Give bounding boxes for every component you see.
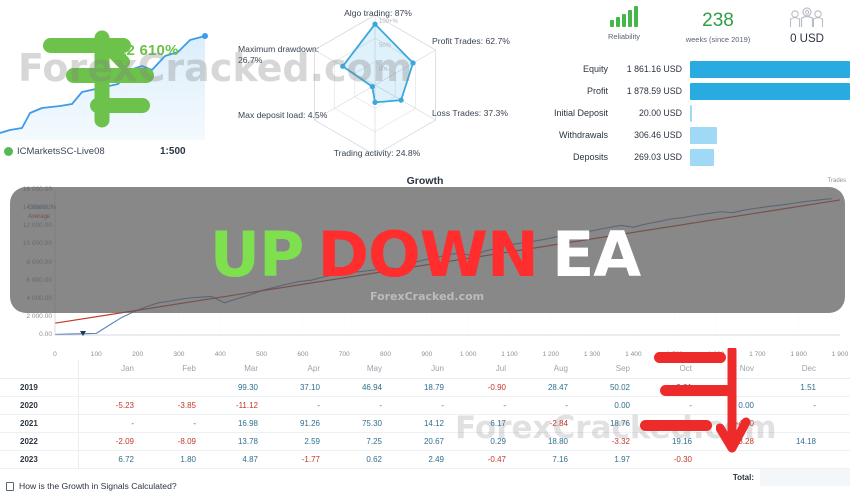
account-row-value: 1 878.59 USD <box>608 86 690 96</box>
growth-x-tick: 1 300 <box>579 351 605 358</box>
table-cell-month: 37.10 <box>264 378 326 396</box>
table-header-row: Jan Feb Mar Apr May Jun Jul Aug Sep Oct … <box>0 360 850 378</box>
table-header-jun: Jun <box>388 360 450 378</box>
radar-label-loss-trades: Loss Trades: 37.3% <box>432 108 512 119</box>
table-cell-month: 1.80 <box>140 450 202 468</box>
radar-label-profit-trades: Profit Trades: 62.7% <box>432 36 512 47</box>
broker-row: ICMarketsSC-Live08 <box>4 146 250 157</box>
table-cell-month: 9.91 <box>636 378 698 396</box>
table-header-apr: Apr <box>264 360 326 378</box>
table-cell-month: 1.97 <box>574 450 636 468</box>
growth-x-tick: 1 500 <box>662 351 688 358</box>
account-row-barwrap <box>690 149 850 166</box>
table-cell-month: - <box>450 396 512 414</box>
table-cell-month: - <box>326 396 388 414</box>
table-cell-month <box>760 414 822 432</box>
table-cell-month: 99.30 <box>202 378 264 396</box>
growth-help-link-label: How is the Growth in Signals Calculated? <box>19 481 177 491</box>
growth-x-tick: 900 <box>414 351 440 358</box>
table-cell-month: 2.49 <box>388 450 450 468</box>
account-row-bar <box>690 105 692 122</box>
document-icon <box>6 482 14 491</box>
table-cell-month: 0.29 <box>450 432 512 450</box>
table-header-aug: Aug <box>512 360 574 378</box>
monthly-returns-grid: Jan Feb Mar Apr May Jun Jul Aug Sep Oct … <box>0 360 850 486</box>
account-row-profit: Profit 1 878.59 USD <box>520 80 850 102</box>
account-row-value: 306.46 USD <box>608 130 690 140</box>
table-cell-month: 4.87 <box>202 450 264 468</box>
table-cell-month: 7.16 <box>512 450 574 468</box>
table-cell-month: - <box>78 414 140 432</box>
table-cell-month <box>698 450 760 468</box>
growth-y-tick: 0.00 <box>0 331 52 338</box>
radar-label-max-deposit-load: Max deposit load: 4.5% <box>238 110 330 121</box>
weeks-caption: weeks (since 2019) <box>668 35 768 44</box>
growth-x-axis-label: Trades <box>828 178 846 184</box>
growth-x-tick: 1 800 <box>786 351 812 358</box>
table-cell-month: 0.00 <box>698 396 760 414</box>
growth-x-tick: 1 000 <box>455 351 481 358</box>
table-cell-month: 18.76 <box>574 414 636 432</box>
table-cell-month: -11.12 <box>202 396 264 414</box>
table-cell-month: 6.17 <box>450 414 512 432</box>
table-cell-month: 18.80 <box>512 432 574 450</box>
table-row: 2022-2.09-8.0913.782.597.2520.670.2918.8… <box>0 432 850 450</box>
table-cell-year: 2019 <box>0 378 78 396</box>
table-header-mar: Mar <box>202 360 264 378</box>
account-row-bar <box>690 127 717 144</box>
table-cell-month: 13.78 <box>202 432 264 450</box>
growth-x-tick: 1 100 <box>496 351 522 358</box>
growth-y-tick: 4 000.00 <box>0 295 52 302</box>
leverage-value: 1:500 <box>160 146 186 157</box>
table-cell-year: 2023 <box>0 450 78 468</box>
broker-status-icon <box>4 147 13 156</box>
table-header-jul: Jul <box>450 360 512 378</box>
growth-x-tick: 400 <box>207 351 233 358</box>
table-cell-month: - <box>388 396 450 414</box>
legend-item-growth: Growth, % <box>28 204 56 213</box>
subscribers-people-icon: 0 <box>787 5 827 29</box>
table-cell-month: -3.85 <box>140 396 202 414</box>
table-row: 20236.721.804.87-1.770.622.49-0.477.161.… <box>0 450 850 468</box>
table-cell-month: 6.72 <box>78 450 140 468</box>
table-cell-ytd: 617.57% <box>822 414 850 432</box>
growth-x-tick: 1 400 <box>620 351 646 358</box>
kpi-weeks: 238 weeks (since 2019) <box>668 5 768 57</box>
table-cell-year: 2022 <box>0 432 78 450</box>
account-row-barwrap <box>690 83 850 100</box>
overlay-word-up: UP <box>210 224 304 286</box>
table-header-year <box>0 360 78 378</box>
table-header-dec: Dec <box>760 360 822 378</box>
account-row-value: 1 861.16 USD <box>608 64 690 74</box>
table-row: 201999.3037.1046.9418.79-0.9028.4750.029… <box>0 378 850 396</box>
logo-arrow-icon <box>18 20 168 130</box>
growth-x-tick: 200 <box>125 351 151 358</box>
kpi-row: Reliability 238 weeks (since 2019) 0 <box>580 5 850 57</box>
radar-label-algo-trading: Algo trading: 87% <box>308 8 448 19</box>
growth-x-tick: 800 <box>373 351 399 358</box>
table-cell-month: 7.25 <box>326 432 388 450</box>
table-cell-month: -3.32 <box>574 432 636 450</box>
table-cell-month: 0.00 <box>574 396 636 414</box>
account-rows: Equity 1 861.16 USD Profit 1 878.59 USD … <box>520 58 850 168</box>
svg-text:50%: 50% <box>379 43 392 49</box>
growth-x-tick: 500 <box>249 351 275 358</box>
svg-text:0%: 0% <box>379 67 388 73</box>
table-cell-year: 2020 <box>0 396 78 414</box>
growth-chart-title: Growth <box>0 175 850 187</box>
account-row-value: 269.03 USD <box>608 152 690 162</box>
table-cell-month <box>78 378 140 396</box>
account-row-value: 20.00 USD <box>608 108 690 118</box>
table-cell-month: -13.28 <box>698 432 760 450</box>
table-cell-month: 20.67 <box>388 432 450 450</box>
weeks-value: 238 <box>668 5 768 30</box>
growth-percent-value: 12 610% <box>118 42 179 59</box>
reliability-caption: Reliability <box>580 32 668 41</box>
table-cell-month <box>140 378 202 396</box>
broker-name: ICMarketsSC-Live08 <box>17 146 105 157</box>
growth-x-tick: 1 700 <box>744 351 770 358</box>
account-row-barwrap <box>690 127 850 144</box>
table-cell-month: 28.47 <box>512 378 574 396</box>
overlay-word-ea: EA <box>552 224 640 286</box>
account-row-label: Initial Deposit <box>520 108 608 118</box>
account-row-label: Equity <box>520 64 608 74</box>
table-cell-month: -0.90 <box>450 378 512 396</box>
growth-x-tick: 700 <box>331 351 357 358</box>
table-row: 2020-5.23-3.85-11.12-----0.00-0.00--19.0… <box>0 396 850 414</box>
table-cell-month: - <box>140 414 202 432</box>
table-cell-month: -8.09 <box>140 432 202 450</box>
growth-x-tick: 0 <box>42 351 68 358</box>
account-row-label: Withdrawals <box>520 130 608 140</box>
table-cell-month: 14.18 <box>760 432 822 450</box>
table-cell-month: 50.02 <box>574 378 636 396</box>
kpi-subscribers: 0 0 USD <box>768 5 846 57</box>
monthly-returns-table: Jan Feb Mar Apr May Jun Jul Aug Sep Oct … <box>0 360 850 500</box>
svg-text:100+%: 100+% <box>379 19 399 25</box>
growth-y-tick: 16 000.00 <box>0 186 52 193</box>
mini-growth-card: 12 610% ICMarketsSC-Live08 1:500 <box>0 0 250 175</box>
table-header-jan: Jan <box>78 360 140 378</box>
table-cell-ytd: 25.13% <box>822 450 850 468</box>
table-cell-month: 1.51 <box>760 378 822 396</box>
table-cell-month: - <box>636 396 698 414</box>
growth-help-link[interactable]: How is the Growth in Signals Calculated? <box>6 481 177 491</box>
radar-label-maximum-drawdown: Maximum drawdown: 26.7% <box>238 44 330 65</box>
account-row-bar <box>690 83 850 100</box>
table-cell-ytd: 84.76% <box>822 432 850 450</box>
table-cell-year: 2021 <box>0 414 78 432</box>
table-cell-month: -2.09 <box>78 432 140 450</box>
growth-x-tick: 300 <box>166 351 192 358</box>
growth-x-tick: 1 900 <box>827 351 850 358</box>
table-cell-ytd: -19.03% <box>822 396 850 414</box>
kpi-reliability: Reliability <box>580 5 668 57</box>
table-cell-month: 14.12 <box>388 414 450 432</box>
account-stats-panel: Reliability 238 weeks (since 2019) 0 <box>520 0 850 175</box>
account-row-bar <box>690 61 850 78</box>
table-cell-month: -2.84 <box>512 414 574 432</box>
reliability-bars-icon <box>580 5 668 27</box>
account-row-barwrap <box>690 61 850 78</box>
table-cell-month: 75.30 <box>326 414 388 432</box>
table-cell-month: -4.60 <box>698 414 760 432</box>
account-row-barwrap <box>690 105 850 122</box>
table-cell-month: 2.59 <box>264 432 326 450</box>
table-cell-month: 19.63 <box>636 414 698 432</box>
growth-y-tick: 2 000.00 <box>0 313 52 320</box>
overlay-word-down: DOWN <box>318 224 538 286</box>
account-row-label: Profit <box>520 86 608 96</box>
growth-x-tick: 100 <box>83 351 109 358</box>
table-header-sep: Sep <box>574 360 636 378</box>
account-row-withdrawals: Withdrawals 306.46 USD <box>520 124 850 146</box>
table-cell-month: 16.98 <box>202 414 264 432</box>
growth-x-tick: 600 <box>290 351 316 358</box>
account-row-deposits: Deposits 269.03 USD <box>520 146 850 168</box>
brand-logo <box>18 20 168 130</box>
svg-text:0: 0 <box>805 10 809 17</box>
table-cell-month: 18.79 <box>388 378 450 396</box>
table-cell-month: -1.77 <box>264 450 326 468</box>
table-cell-month: -0.30 <box>636 450 698 468</box>
table-cell-month: 0.62 <box>326 450 388 468</box>
account-row-label: Deposits <box>520 152 608 162</box>
table-cell-month: - <box>264 396 326 414</box>
table-cell-month: 19.16 <box>636 432 698 450</box>
table-body: 201999.3037.1046.9418.79-0.9028.4750.029… <box>0 378 850 468</box>
account-row-initial-deposit: Initial Deposit 20.00 USD <box>520 102 850 124</box>
account-row-equity: Equity 1 861.16 USD <box>520 58 850 80</box>
subscribers-amount: 0 USD <box>768 33 846 45</box>
growth-x-tick: 1 200 <box>538 351 564 358</box>
account-row-bar <box>690 149 714 166</box>
table-cell-month <box>760 450 822 468</box>
radar-label-trading-activity: Trading activity: 24.8% <box>292 148 462 159</box>
table-header-ytd: YTD <box>822 360 850 378</box>
table-cell-month: -5.23 <box>78 396 140 414</box>
table-cell-month: 91.26 <box>264 414 326 432</box>
table-header-feb: Feb <box>140 360 202 378</box>
table-header-oct: Oct <box>636 360 698 378</box>
table-cell-ytd: 846.20% <box>822 378 850 396</box>
radar-chart: 100+% 50% 0% Algo trading: 87% Profit Tr… <box>232 0 518 175</box>
table-cell-month: 46.94 <box>326 378 388 396</box>
signal-stats-page: 12 610% ICMarketsSC-Live08 1:500 <box>0 0 850 500</box>
table-header-may: May <box>326 360 388 378</box>
table-cell-month: - <box>760 396 822 414</box>
overlay-product-title: UP DOWN EA <box>0 215 850 295</box>
table-cell-month: - <box>512 396 574 414</box>
growth-x-tick: 1 600 <box>703 351 729 358</box>
top-summary-section: 12 610% ICMarketsSC-Live08 1:500 <box>0 0 850 175</box>
table-cell-month: -0.47 <box>450 450 512 468</box>
total-value: 12 609.56% <box>760 468 850 486</box>
table-header-nov: Nov <box>698 360 760 378</box>
table-cell-month <box>698 378 760 396</box>
table-row: 2021--16.9891.2675.3014.126.17-2.8418.76… <box>0 414 850 432</box>
